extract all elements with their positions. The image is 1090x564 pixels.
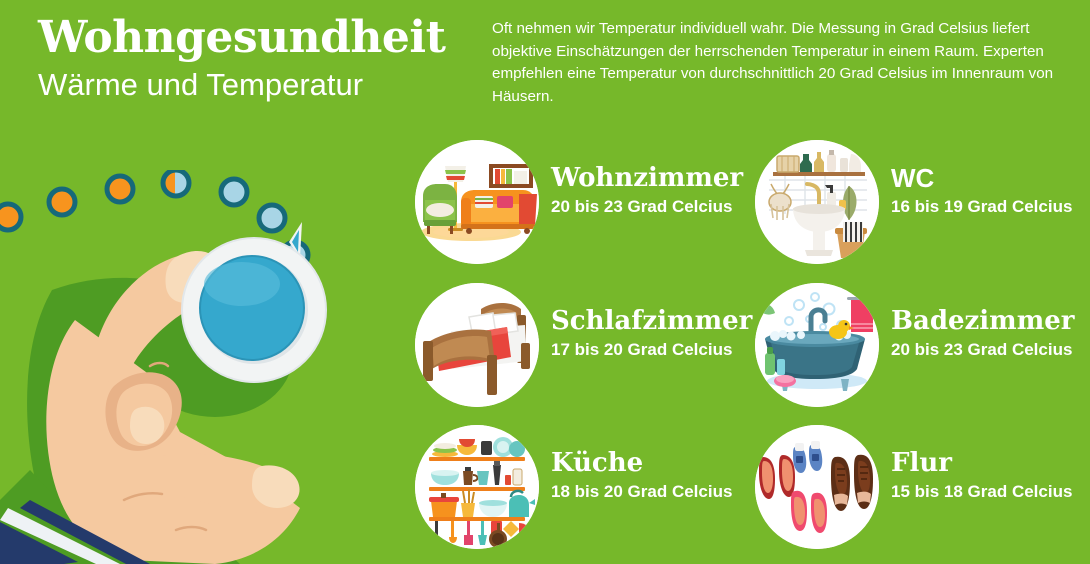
- room-temperature: 15 bis 18 Grad Celcius: [891, 480, 1072, 504]
- title-subtitle: Wärme und Temperatur: [38, 66, 468, 104]
- room-text-wc: WC 16 bis 19 Grad Celcius: [891, 162, 1072, 219]
- wc-sink-icon: [755, 140, 879, 264]
- room-name: WC: [891, 162, 1072, 194]
- room-text-kueche: Küche 18 bis 20 Grad Celcius: [551, 447, 732, 504]
- intro-paragraph: Oft nehmen wir Temperatur individuell wa…: [492, 18, 1082, 108]
- room-name: Flur: [891, 447, 1072, 479]
- hand-holding-thermostat-illustration: [0, 170, 410, 564]
- room-text-wohnzimmer: Wohnzimmer 20 bis 23 Grad Celcius: [551, 162, 743, 219]
- kitchen-shelves-icon: [415, 425, 539, 549]
- room-temperature: 20 bis 23 Grad Celcius: [551, 195, 743, 219]
- room-name: Wohnzimmer: [551, 162, 743, 194]
- infographic-canvas: Wohngesundheit Wärme und Temperatur Oft …: [0, 0, 1090, 564]
- indicator-dot-1: [49, 189, 75, 215]
- room-name: Badezimmer: [891, 305, 1074, 337]
- indicator-dot-2: [107, 176, 133, 202]
- indicator-dot-4: [221, 179, 247, 205]
- room-temperature: 16 bis 19 Grad Celcius: [891, 195, 1072, 219]
- bedroom-bed-icon: [415, 283, 539, 407]
- page-title: Wohngesundheit Wärme und Temperatur: [38, 12, 468, 104]
- room-text-badezimmer: Badezimmer 20 bis 23 Grad Celcius: [891, 305, 1074, 362]
- living-room-icon: [415, 140, 539, 264]
- title-main: Wohngesundheit: [38, 12, 468, 64]
- room-card-badezimmer[interactable]: Badezimmer 20 bis 23 Grad Celcius: [755, 283, 1085, 407]
- room-text-schlafzimmer: Schlafzimmer 17 bis 20 Grad Celcius: [551, 305, 752, 362]
- room-temperature: 18 bis 20 Grad Celcius: [551, 480, 732, 504]
- room-card-flur[interactable]: Flur 15 bis 18 Grad Celcius: [755, 425, 1085, 549]
- room-name: Schlafzimmer: [551, 305, 752, 337]
- indicator-dot-5: [259, 205, 285, 231]
- indicator-dot-3: [163, 170, 189, 196]
- room-card-kueche[interactable]: Küche 18 bis 20 Grad Celcius: [415, 425, 785, 549]
- room-text-flur: Flur 15 bis 18 Grad Celcius: [891, 447, 1072, 504]
- hallway-shoes-icon: [755, 425, 879, 549]
- bathroom-tub-icon: [755, 283, 879, 407]
- indicator-dot-0: [0, 204, 21, 230]
- room-card-wc[interactable]: WC 16 bis 19 Grad Celcius: [755, 140, 1085, 264]
- room-card-wohnzimmer[interactable]: Wohnzimmer 20 bis 23 Grad Celcius: [415, 140, 775, 264]
- room-temperature: 17 bis 20 Grad Celcius: [551, 338, 752, 362]
- room-temperature: 20 bis 23 Grad Celcius: [891, 338, 1074, 362]
- room-name: Küche: [551, 447, 732, 479]
- room-card-schlafzimmer[interactable]: Schlafzimmer 17 bis 20 Grad Celcius: [415, 283, 785, 407]
